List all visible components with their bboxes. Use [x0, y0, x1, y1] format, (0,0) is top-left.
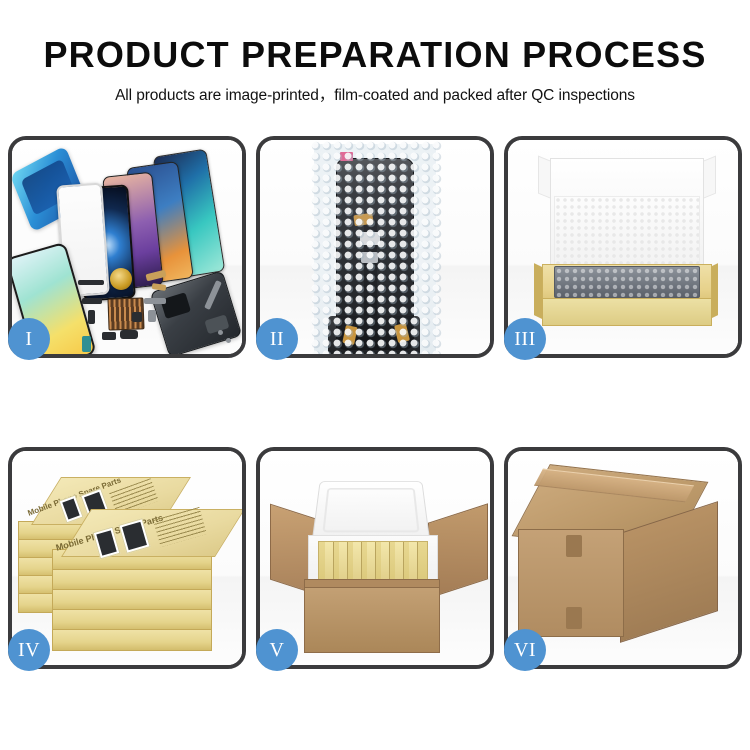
product-preparation-infographic: PRODUCT PREPARATION PROCESS All products… — [0, 0, 750, 750]
carton-tab-upper — [566, 535, 582, 557]
part-metal-bracket — [144, 298, 166, 304]
gold-box-front — [542, 298, 712, 326]
steps-grid: I II — [8, 136, 742, 669]
part-screw-1 — [218, 330, 223, 335]
gold-coil-part — [110, 268, 132, 290]
part-connector-1 — [82, 298, 102, 304]
step-badge-5: V — [256, 629, 298, 671]
bubble-texture-overlay — [310, 140, 442, 354]
carton-front-panel — [304, 587, 440, 653]
step-panel-6[interactable]: VI — [504, 447, 742, 669]
carton-tab-lower — [566, 607, 582, 629]
page-subtitle: All products are image-printed，film-coat… — [0, 74, 750, 105]
bubble-pattern — [310, 140, 442, 354]
stacked-box-front-4 — [52, 569, 212, 591]
part-speaker — [120, 330, 138, 339]
step-panel-1[interactable]: I — [8, 136, 246, 358]
step-panel-4[interactable]: Mobile Phone Spare Parts Mobile Phone Sp… — [8, 447, 246, 669]
part-connector-2 — [88, 310, 95, 324]
styrofoam-lid — [312, 481, 431, 541]
step-panel-3[interactable]: III — [504, 136, 742, 358]
step-badge-6: VI — [504, 629, 546, 671]
step-badge-4: IV — [8, 629, 50, 671]
part-camera-module — [132, 312, 142, 322]
step-image-1 — [12, 140, 242, 354]
step-badge-2: II — [256, 318, 298, 360]
bubble-wrapped-contents — [554, 266, 700, 298]
foam-sheet — [554, 196, 700, 270]
step-badge-1: I — [8, 318, 50, 360]
box-stack: Mobile Phone Spare Parts Mobile Phone Sp… — [12, 451, 242, 665]
step-panel-2[interactable]: II — [256, 136, 494, 358]
stacked-box-front-2 — [52, 609, 212, 631]
step-image-4: Mobile Phone Spare Parts Mobile Phone Sp… — [12, 451, 242, 665]
part-metal-clip — [148, 310, 156, 322]
stacked-box-front-1 — [52, 629, 212, 651]
step-panel-5[interactable]: V — [256, 447, 494, 669]
part-connector-3 — [102, 332, 116, 340]
part-battery-tab — [82, 336, 91, 352]
step-badge-3: III — [504, 318, 546, 360]
stacked-box-front-3 — [52, 589, 212, 611]
step-image-5 — [260, 451, 490, 665]
page-title: PRODUCT PREPARATION PROCESS — [0, 0, 750, 74]
step-image-2 — [260, 140, 490, 354]
part-screw-2 — [226, 338, 231, 343]
part-bar-1 — [78, 280, 104, 285]
step-image-3 — [508, 140, 738, 354]
step-image-6 — [508, 451, 738, 665]
header: PRODUCT PREPARATION PROCESS All products… — [0, 0, 750, 105]
